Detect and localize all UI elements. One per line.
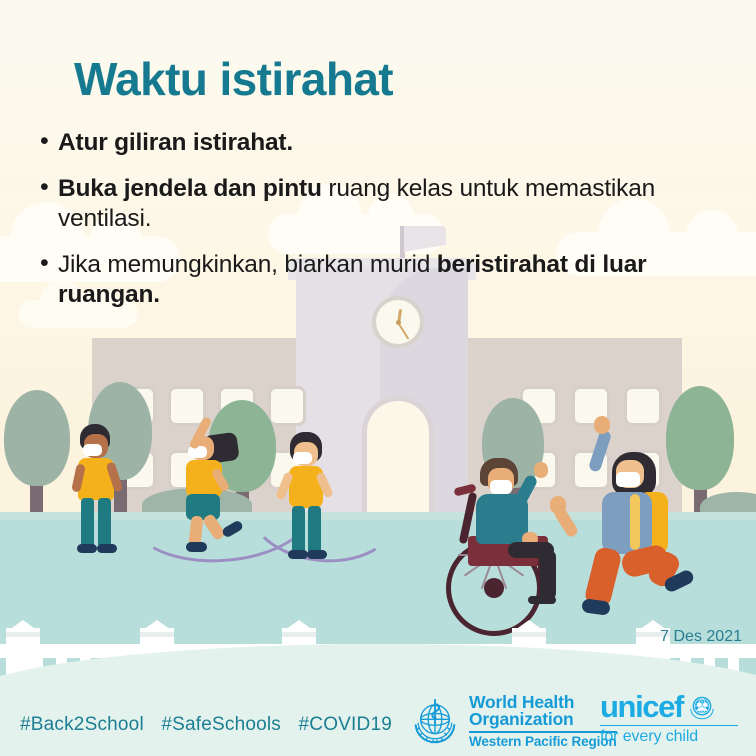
shorts [186, 494, 220, 520]
page-title: Waktu istirahat [74, 52, 393, 106]
list-item-text: Jika memungkinkan, biarkan murid beristi… [58, 250, 726, 309]
date-label: 7 Des 2021 [660, 628, 742, 646]
unicef-tagline: for every child [600, 728, 742, 746]
fence-post-band [140, 632, 174, 637]
who-emblem-icon [408, 694, 462, 748]
hand [594, 416, 610, 434]
poster-canvas: 7 Des 2021 Waktu istirahat • Atur gilira… [0, 0, 756, 756]
who-rule [469, 731, 617, 733]
hashtag-back2school[interactable]: #Back2School [20, 714, 144, 735]
unicef-rule [600, 725, 738, 726]
list-item-text: Buka jendela dan pintu ruang kelas untuk… [58, 174, 726, 233]
leg [308, 506, 321, 554]
leg [292, 506, 305, 554]
list-item: • Atur giliran istirahat. [36, 128, 726, 157]
unicef-logo: unicef for every child [600, 692, 742, 746]
hand [534, 462, 548, 478]
shoe [97, 544, 117, 553]
hashtag-covid19[interactable]: #COVID19 [299, 714, 392, 735]
hashtag-safeschools[interactable]: #SafeSchools [161, 714, 281, 735]
who-line3: Western Pacific Region [469, 735, 617, 749]
fence-post-band [282, 632, 316, 637]
fence-post-band [6, 632, 40, 637]
bold-text: Atur giliran istirahat. [58, 129, 293, 156]
window [268, 386, 306, 426]
who-text-block: World Health Organization Western Pacifi… [469, 694, 617, 749]
wheel-hub [484, 578, 504, 598]
window [168, 386, 206, 426]
list-item: • Buka jendela dan pintu ruang kelas unt… [36, 174, 726, 233]
unicef-emblem-icon [687, 692, 717, 722]
shoe [288, 550, 308, 559]
leg [81, 498, 94, 548]
face-mask-icon [616, 472, 640, 487]
who-logo: World Health Organization Western Pacifi… [408, 694, 617, 749]
leg [540, 550, 556, 600]
footer-bar: #Back2School #SafeSchools #COVID19 [0, 682, 756, 756]
shoe [186, 542, 207, 552]
window [624, 386, 662, 426]
tree-crown [4, 390, 70, 486]
list-item: • Jika memungkinkan, biarkan murid beris… [36, 250, 726, 309]
face-mask-icon [293, 452, 312, 464]
fence-post-band [512, 632, 546, 637]
bullet-marker: • [36, 250, 58, 309]
bullet-marker: • [36, 128, 58, 157]
tree-crown [666, 386, 734, 490]
hand [550, 496, 566, 514]
shoe [77, 544, 97, 553]
regular-text: Jika memungkinkan, biarkan murid [58, 251, 437, 278]
leg [98, 498, 111, 548]
face-mask-icon [188, 446, 207, 458]
list-item-text: Atur giliran istirahat. [58, 128, 293, 157]
unicef-wordmark: unicef [600, 692, 683, 721]
bullet-marker: • [36, 174, 58, 233]
face-mask-icon [83, 444, 102, 456]
who-line2: Organization [469, 711, 617, 729]
bold-text: Buka jendela dan pintu [58, 175, 328, 202]
face-mask-icon [490, 480, 512, 494]
unicef-wordmark-row: unicef [600, 692, 742, 722]
hashtag-group: #Back2School #SafeSchools #COVID19 [20, 714, 404, 736]
bullet-list: • Atur giliran istirahat. • Buka jendela… [36, 128, 726, 326]
shoe [307, 550, 327, 559]
backpack-strap [630, 494, 640, 550]
shirt [602, 492, 652, 554]
